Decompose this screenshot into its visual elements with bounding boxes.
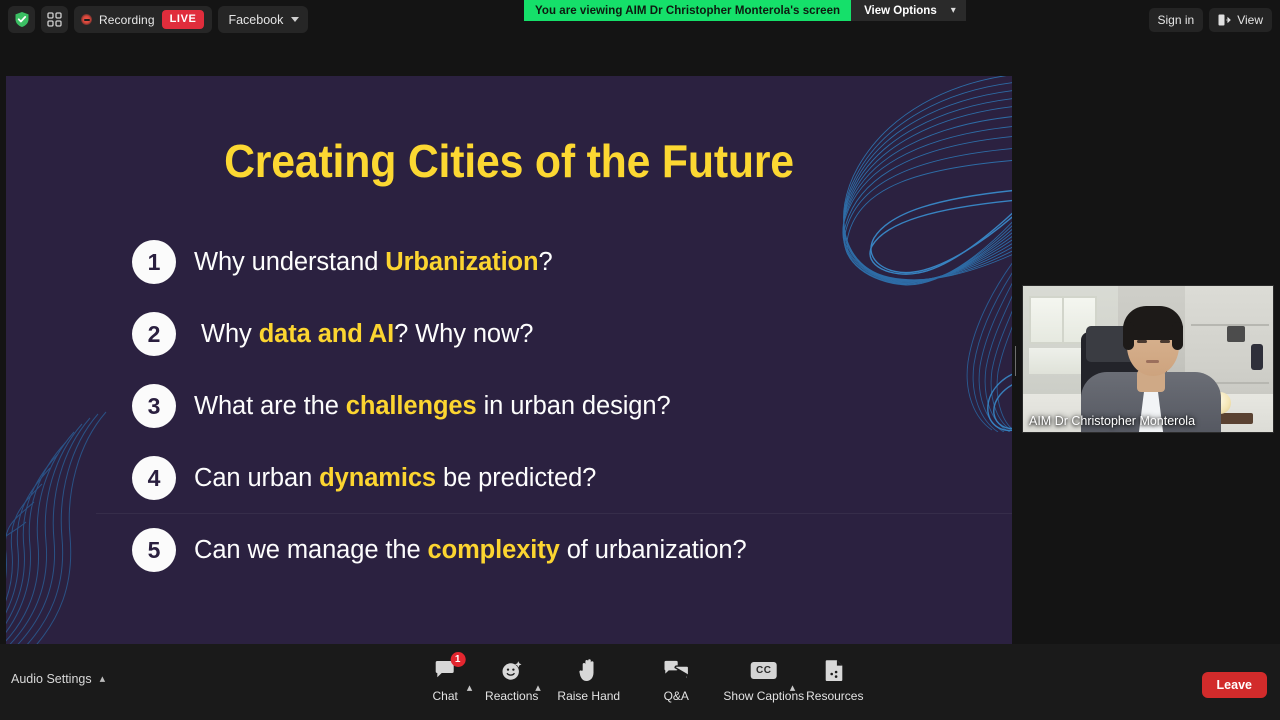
bullet-number-badge: 3	[132, 384, 176, 428]
video-person-mouth	[1146, 360, 1159, 363]
top-toolbar-left-group: Recording LIVE Facebook	[8, 6, 308, 33]
chevron-down-icon: ▾	[951, 6, 956, 16]
view-options-button[interactable]: View Options ▾	[851, 0, 966, 21]
raise-hand-label: Raise Hand	[557, 689, 620, 703]
slide-bullet-item: 3 What are the challenges in urban desig…	[132, 370, 1012, 442]
raise-hand-button[interactable]: Raise Hand	[541, 644, 637, 703]
bullet-text: Can urban dynamics be predicted?	[194, 464, 596, 493]
resources-icon-wrap	[825, 657, 845, 683]
reactions-label: Reactions	[485, 689, 538, 703]
resources-file-icon	[825, 659, 845, 682]
chat-label: Chat	[433, 689, 458, 703]
bullet-number-badge: 1	[132, 240, 176, 284]
shield-check-icon-button[interactable]	[8, 6, 35, 33]
chat-unread-badge: 1	[450, 652, 465, 667]
qa-label: Q&A	[664, 689, 689, 703]
bullet-number-badge: 4	[132, 456, 176, 500]
top-toolbar: Recording LIVE Facebook You are viewing …	[0, 0, 1280, 40]
bullet-text: Why data and AI? Why now?	[194, 320, 533, 349]
raise-hand-icon	[579, 659, 599, 682]
video-bg-figurine	[1251, 344, 1263, 370]
chevron-up-icon[interactable]: ▴	[100, 674, 106, 685]
cc-icon: CC	[751, 662, 777, 679]
live-badge: LIVE	[162, 10, 205, 29]
grid-apps-icon	[47, 12, 62, 27]
audio-settings-button[interactable]: Audio Settings ▴	[11, 672, 105, 686]
streaming-platform-selector[interactable]: Facebook	[218, 6, 308, 33]
bullet-text: What are the challenges in urban design?	[194, 392, 671, 421]
slide-title: Creating Cities of the Future	[41, 134, 977, 188]
zoom-meeting-window: Recording LIVE Facebook You are viewing …	[0, 0, 1280, 720]
bullet-number-badge: 2	[132, 312, 176, 356]
sign-in-button[interactable]: Sign in	[1149, 8, 1204, 32]
video-bg-object	[1227, 326, 1245, 342]
bullet-text: Why understand Urbanization?	[194, 248, 553, 277]
view-layout-button[interactable]: View	[1209, 8, 1272, 32]
participant-name-label: AIM Dr Christopher Monterola	[1023, 412, 1201, 432]
audio-settings-label: Audio Settings	[11, 672, 92, 686]
video-bg-window-lower	[1029, 348, 1089, 374]
meeting-controls-bar: Audio Settings ▴ 1 Chat ▴	[0, 644, 1280, 720]
video-person-hair-side	[1172, 322, 1183, 350]
shield-check-icon	[14, 11, 30, 28]
slide-bullet-item: 5 Can we manage the complexity of urbani…	[132, 514, 1012, 586]
qa-icon-wrap	[663, 657, 689, 683]
recording-stop-icon	[81, 14, 92, 25]
participant-video-tile[interactable]: AIM Dr Christopher Monterola	[1022, 285, 1274, 433]
view-label: View	[1237, 13, 1263, 27]
video-panel-drag-handle[interactable]	[1014, 346, 1018, 376]
qa-button[interactable]: Q&A	[637, 644, 716, 703]
sign-in-label: Sign in	[1158, 13, 1195, 27]
resources-label: Resources	[806, 689, 863, 703]
center-controls-group: 1 Chat ▴ Reactions ▴	[406, 644, 875, 720]
leave-meeting-button[interactable]: Leave	[1202, 672, 1267, 698]
cc-icon-wrap: CC	[751, 657, 777, 683]
reactions-icon-wrap	[501, 657, 523, 683]
bullet-number-badge: 5	[132, 528, 176, 572]
qa-bubbles-icon	[663, 660, 689, 680]
recording-label: Recording	[99, 13, 155, 27]
grid-apps-icon-button[interactable]	[41, 6, 68, 33]
screen-share-banner: You are viewing AIM Dr Christopher Monte…	[524, 0, 851, 21]
chevron-down-icon	[291, 17, 299, 22]
top-toolbar-right-group: Sign in View	[1149, 8, 1273, 32]
streaming-platform-label: Facebook	[228, 13, 283, 27]
chat-icon-wrap: 1	[434, 657, 456, 683]
emoji-reaction-icon	[501, 660, 523, 681]
shared-screen-slide: Creating Cities of the Future 1 Why unde…	[6, 76, 1012, 644]
screen-share-status-group: You are viewing AIM Dr Christopher Monte…	[524, 0, 966, 21]
raise-hand-icon-wrap	[579, 657, 599, 683]
slide-bullet-item: 1 Why understand Urbanization?	[132, 226, 1012, 298]
slide-bullet-list: 1 Why understand Urbanization? 2 Why dat…	[132, 226, 1012, 586]
slide-bullet-item: 2 Why data and AI? Why now?	[132, 298, 1012, 370]
slide-bullet-item: 4 Can urban dynamics be predicted?	[132, 442, 1012, 514]
video-person-eye	[1137, 340, 1147, 343]
video-person-hair-side	[1123, 322, 1134, 350]
resources-button[interactable]: Resources	[795, 644, 874, 703]
view-layout-icon	[1218, 14, 1231, 26]
view-options-label: View Options	[864, 5, 937, 17]
recording-indicator[interactable]: Recording LIVE	[74, 6, 212, 33]
reactions-button[interactable]: Reactions	[472, 644, 551, 703]
bullet-text: Can we manage the complexity of urbaniza…	[194, 536, 747, 565]
video-person-eye	[1160, 340, 1170, 343]
